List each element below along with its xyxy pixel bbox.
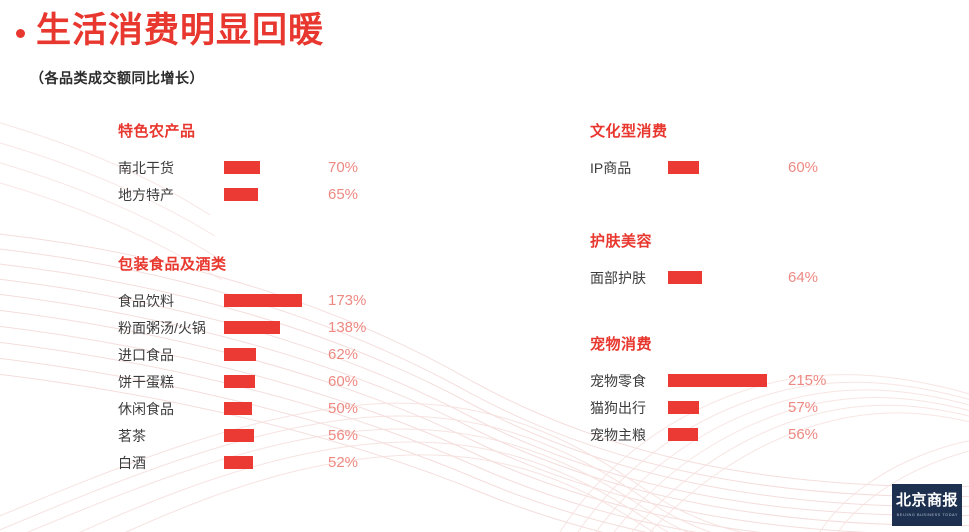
bar-fill xyxy=(668,161,699,174)
bullet-dot-icon xyxy=(16,29,25,38)
bar-row-label: 猫狗出行 xyxy=(590,398,668,418)
bar-row-value: 138% xyxy=(328,319,388,336)
bar-row-value: 60% xyxy=(328,373,388,390)
publisher-logo-en: BEIJING BUSINESS TODAY xyxy=(896,512,957,517)
bar-fill xyxy=(224,321,280,334)
bar-row-value: 60% xyxy=(788,159,848,176)
bar-row-value: 70% xyxy=(328,159,388,176)
bar-track xyxy=(224,161,328,174)
bar-fill xyxy=(224,402,252,415)
bar-row-value: 56% xyxy=(788,426,848,443)
section-cultural-consumption: 文化型消费 IP商品 60% xyxy=(590,120,848,181)
bar-row-value: 64% xyxy=(788,269,848,286)
bar-fill xyxy=(224,456,253,469)
bar-row-value: 52% xyxy=(328,454,388,471)
section-specialty-agriculture: 特色农产品 南北干货 70% 地方特产 65% xyxy=(118,120,388,208)
bar-row: 饼干蛋糕 60% xyxy=(118,368,388,395)
publisher-logo-cn: 北京商报 xyxy=(896,493,958,510)
bar-row-label: 面部护肤 xyxy=(590,268,668,288)
bar-row-label: 宠物零食 xyxy=(590,371,668,391)
section-title: 文化型消费 xyxy=(590,120,848,141)
section-title: 特色农产品 xyxy=(118,120,388,141)
bar-row: 宠物零食 215% xyxy=(590,367,848,394)
bar-row-label: 饼干蛋糕 xyxy=(118,372,224,392)
bar-fill xyxy=(224,294,302,307)
bar-row: 休闲食品 50% xyxy=(118,395,388,422)
section-pet-consumption: 宠物消费 宠物零食 215% 猫狗出行 57% 宠物主粮 56% xyxy=(590,333,848,448)
bar-track xyxy=(224,402,328,415)
bar-row: 进口食品 62% xyxy=(118,341,388,368)
bar-row-value: 62% xyxy=(328,346,388,363)
bar-track xyxy=(224,294,328,307)
bar-row-label: 食品饮料 xyxy=(118,291,224,311)
bar-row-value: 215% xyxy=(788,372,848,389)
bar-track xyxy=(668,428,788,441)
bar-row: 南北干货 70% xyxy=(118,154,388,181)
bar-track xyxy=(668,401,788,414)
bar-track xyxy=(224,429,328,442)
bar-row-value: 65% xyxy=(328,186,388,203)
bar-row: 茗茶 56% xyxy=(118,422,388,449)
bar-row: 粉面粥汤/火锅 138% xyxy=(118,314,388,341)
bar-track xyxy=(224,348,328,361)
bar-track xyxy=(224,375,328,388)
bar-fill xyxy=(224,429,254,442)
bar-track xyxy=(224,456,328,469)
bar-row-value: 57% xyxy=(788,399,848,416)
bar-fill xyxy=(668,374,767,387)
bar-track xyxy=(224,188,328,201)
section-title: 宠物消费 xyxy=(590,333,848,354)
bar-row: 宠物主粮 56% xyxy=(590,421,848,448)
bar-row: 猫狗出行 57% xyxy=(590,394,848,421)
bar-row-label: 南北干货 xyxy=(118,158,224,178)
bar-track xyxy=(668,374,788,387)
bar-track xyxy=(668,271,788,284)
bar-fill xyxy=(224,188,258,201)
bar-fill xyxy=(224,375,255,388)
bar-row-value: 173% xyxy=(328,292,388,309)
bar-row-label: 宠物主粮 xyxy=(590,425,668,445)
bar-row-label: 粉面粥汤/火锅 xyxy=(118,318,224,338)
bar-row-label: IP商品 xyxy=(590,158,668,178)
infographic-root: 生活消费明显回暖 （各品类成交额同比增长） 特色农产品 南北干货 70% 地方特… xyxy=(0,0,969,532)
section-packaged-food-liquor: 包装食品及酒类 食品饮料 173% 粉面粥汤/火锅 138% 进口食品 62% … xyxy=(118,253,388,476)
bar-track xyxy=(668,161,788,174)
bar-fill xyxy=(668,271,702,284)
bar-track xyxy=(224,321,328,334)
bar-fill xyxy=(668,401,699,414)
bar-row-label: 白酒 xyxy=(118,453,224,473)
bar-row-label: 进口食品 xyxy=(118,345,224,365)
publisher-logo: 北京商报 BEIJING BUSINESS TODAY xyxy=(892,484,962,526)
infographic-content: 生活消费明显回暖 （各品类成交额同比增长） 特色农产品 南北干货 70% 地方特… xyxy=(0,0,969,532)
bar-row: 地方特产 65% xyxy=(118,181,388,208)
section-skincare-beauty: 护肤美容 面部护肤 64% xyxy=(590,230,848,291)
page-title: 生活消费明显回暖 xyxy=(36,13,324,48)
bar-fill xyxy=(224,348,256,361)
bar-row-value: 50% xyxy=(328,400,388,417)
title-row: 生活消费明显回暖 xyxy=(16,13,324,48)
bar-row-label: 休闲食品 xyxy=(118,399,224,419)
section-title: 包装食品及酒类 xyxy=(118,253,388,274)
bar-row: 食品饮料 173% xyxy=(118,287,388,314)
bar-fill xyxy=(224,161,260,174)
bar-row: 白酒 52% xyxy=(118,449,388,476)
bar-row-label: 地方特产 xyxy=(118,185,224,205)
page-subtitle: （各品类成交额同比增长） xyxy=(30,68,204,88)
bar-row: 面部护肤 64% xyxy=(590,264,848,291)
bar-fill xyxy=(668,428,698,441)
bar-row-value: 56% xyxy=(328,427,388,444)
bar-row: IP商品 60% xyxy=(590,154,848,181)
section-title: 护肤美容 xyxy=(590,230,848,251)
bar-row-label: 茗茶 xyxy=(118,426,224,446)
